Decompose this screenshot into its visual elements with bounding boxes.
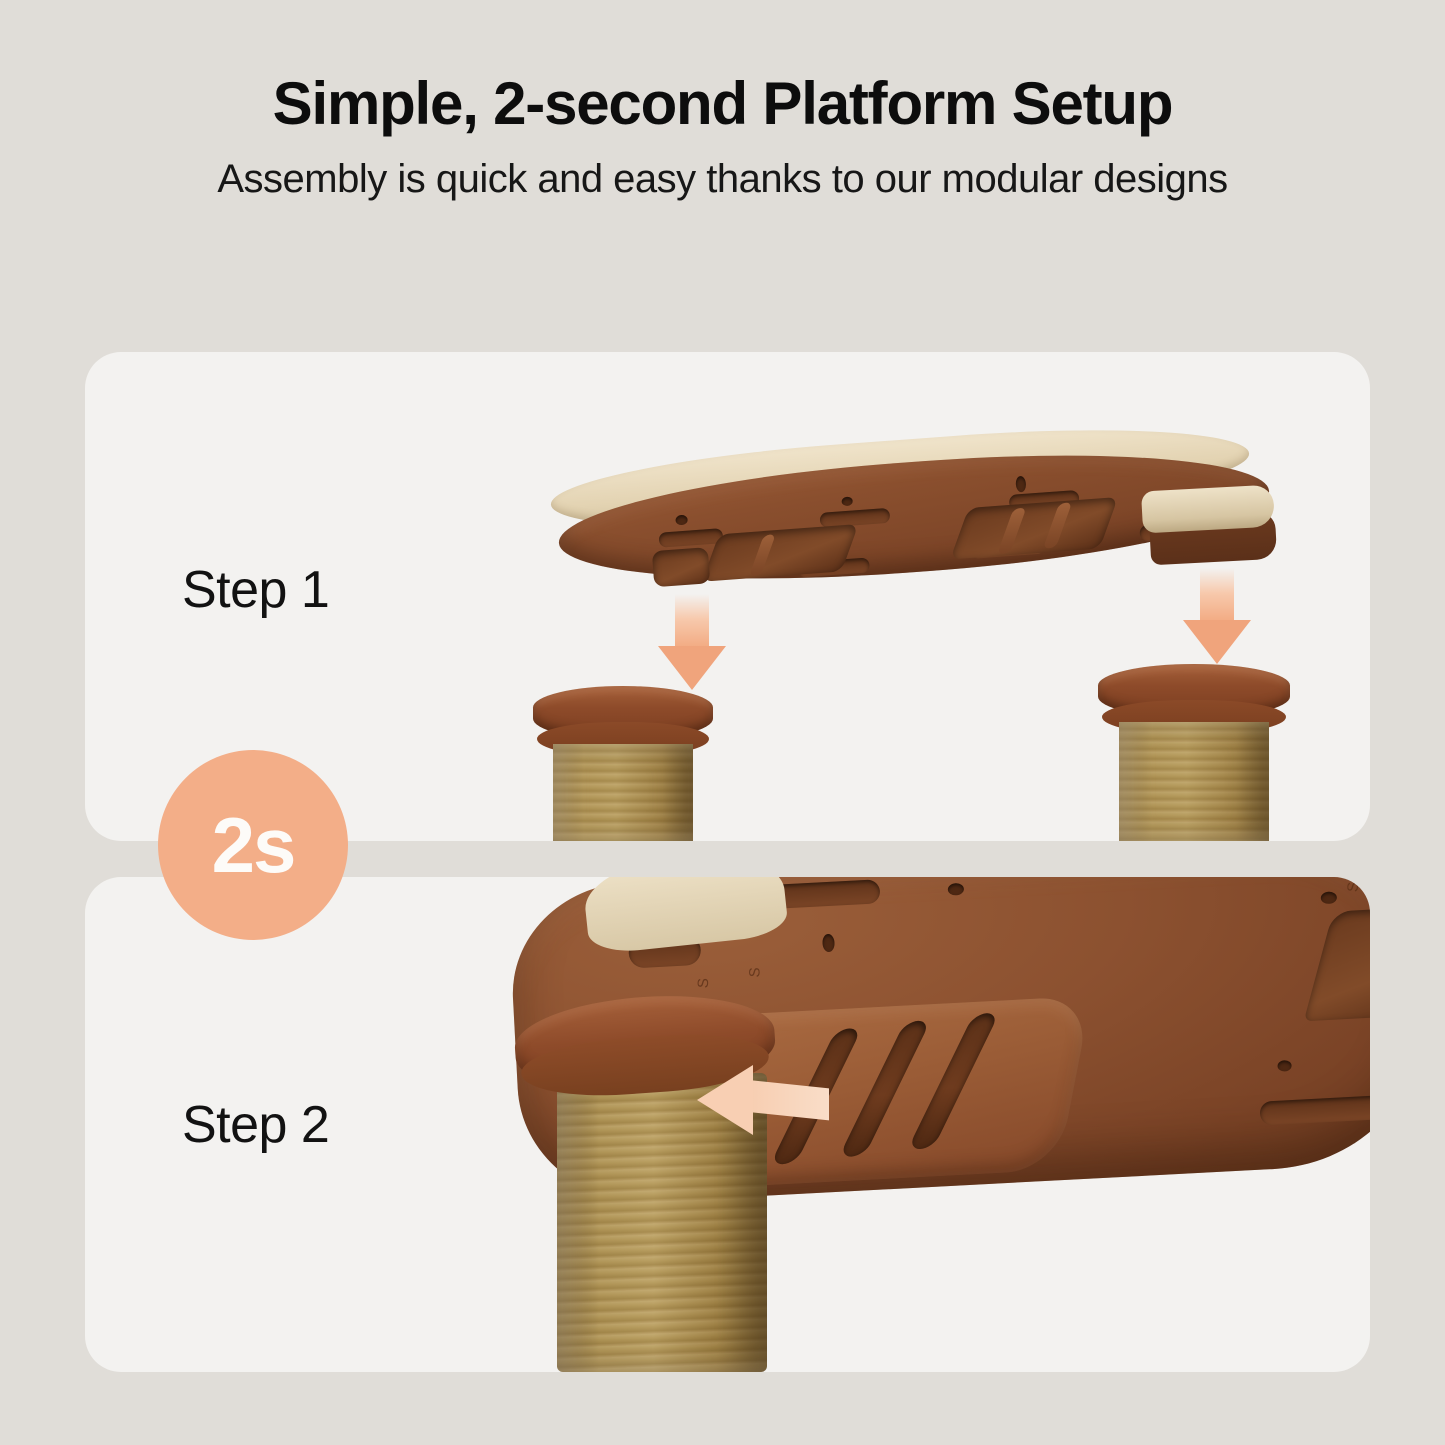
- mount-hole: [841, 496, 853, 506]
- sisal-rope-column: [1119, 722, 1269, 841]
- mount-hole: [822, 934, 835, 953]
- scratching-post-right: [1098, 664, 1290, 841]
- engraving-mark: S: [1345, 882, 1363, 893]
- arrow-head: [658, 646, 726, 690]
- platform-side-tab: [1141, 485, 1275, 534]
- slide-recess: [950, 497, 1118, 559]
- header: Simple, 2-second Platform Setup Assembly…: [0, 0, 1445, 201]
- mount-hole: [1321, 891, 1338, 904]
- mount-slot: [658, 528, 723, 548]
- assembly-arrow-down-left: [658, 594, 726, 690]
- step-2-card: Step 2 S S S S S: [85, 877, 1370, 1372]
- mount-hole: [675, 515, 688, 526]
- arrow-head: [1183, 620, 1251, 664]
- mount-slot: [819, 508, 890, 528]
- arrow-head: [697, 1065, 753, 1135]
- corner-recess: [1304, 905, 1370, 1021]
- scratching-post-left: [533, 686, 713, 841]
- corner-recess: [652, 547, 710, 587]
- page-title: Simple, 2-second Platform Setup: [0, 0, 1445, 135]
- mount-hole: [1015, 476, 1026, 493]
- assembly-arrow-down-right: [1183, 568, 1251, 664]
- engraving-mark: S: [746, 967, 764, 978]
- mount-slot: [1259, 1095, 1370, 1126]
- duration-badge: 2s: [158, 750, 348, 940]
- arrow-shaft: [1200, 568, 1234, 624]
- mount-hole: [1277, 1060, 1292, 1072]
- arrow-shaft: [675, 594, 709, 650]
- mount-hole: [948, 883, 965, 896]
- engraving-mark: S: [695, 978, 713, 989]
- platform-board-step1: [550, 440, 1290, 590]
- duration-badge-label: 2s: [212, 806, 295, 884]
- sisal-rope-column: [553, 744, 693, 841]
- step-1-label: Step 1: [182, 560, 329, 620]
- arrow-shaft: [745, 1080, 829, 1121]
- platform-assembly-step2: S S S S S: [85, 877, 1370, 1372]
- page-subtitle: Assembly is quick and easy thanks to our…: [0, 135, 1445, 201]
- assembly-arrow-left: [697, 1065, 829, 1135]
